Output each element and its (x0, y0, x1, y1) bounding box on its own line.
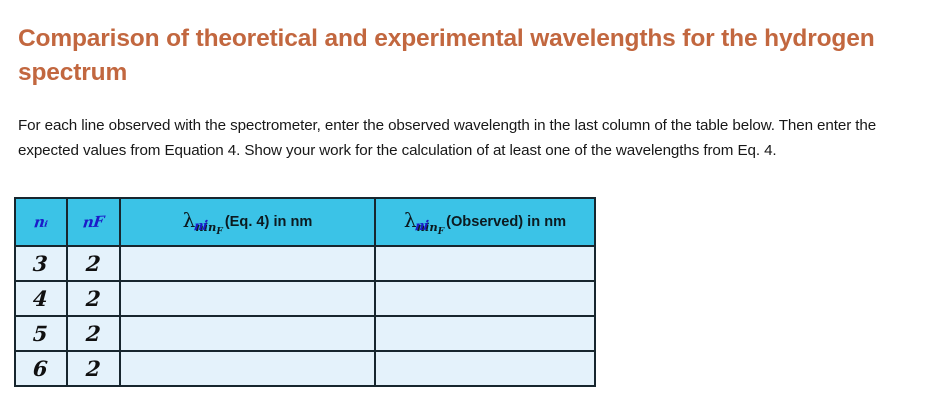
column-header-lambda-observed: λninF ni (Observed) in nm (375, 198, 595, 246)
cell-n-final: 2 (67, 316, 120, 351)
handwritten-value: 4 (33, 286, 50, 311)
column-header-n-initial: nᵢ (15, 198, 67, 246)
handwritten-value: 6 (33, 356, 50, 381)
wavelength-table-container: nᵢ nF λninF ni (Eq. 4) in nm λninF (14, 197, 594, 387)
cell-n-final: 2 (67, 246, 120, 281)
cell-n-initial: 6 (15, 351, 67, 386)
cell-n-final: 2 (67, 281, 120, 316)
handwritten-n-final-ink: nF (82, 212, 105, 231)
cell-n-final: 2 (67, 351, 120, 386)
page-title: Comparison of theoretical and experiment… (18, 22, 898, 90)
cell-lambda-eq4-input[interactable] (120, 351, 375, 386)
cell-n-initial: 4 (15, 281, 67, 316)
instructions-paragraph: For each line observed with the spectrom… (18, 114, 904, 163)
handwritten-value: 2 (85, 286, 102, 311)
table-row: 4 2 (15, 281, 595, 316)
handwritten-value: 2 (85, 251, 102, 276)
lambda-subscript-f-observed: F (438, 220, 444, 234)
wavelength-table: nᵢ nF λninF ni (Eq. 4) in nm λninF (14, 197, 596, 387)
table-row: 3 2 (15, 246, 595, 281)
handwritten-value: 5 (33, 321, 50, 346)
lambda-glyph-icon: λ (404, 208, 417, 232)
cell-lambda-eq4-input[interactable] (120, 316, 375, 351)
lambda-symbol-group-observed: λninF ni (404, 208, 444, 237)
column-header-observed-text: (Observed) in nm (446, 214, 566, 230)
lambda-subscript-f-glyph: F (216, 227, 222, 237)
worksheet-page: Comparison of theoretical and experiment… (0, 0, 936, 412)
handwritten-value: 2 (85, 321, 102, 346)
handwritten-n-initial-ink: nᵢ (33, 213, 49, 232)
cell-lambda-observed-input[interactable] (375, 281, 595, 316)
table-header: nᵢ nF λninF ni (Eq. 4) in nm λninF (15, 198, 595, 246)
column-header-eq4-text: (Eq. 4) in nm (225, 214, 313, 230)
cell-lambda-observed-input[interactable] (375, 351, 595, 386)
lambda-subscript-ni-observed: ni (417, 220, 430, 234)
table-header-row: nᵢ nF λninF ni (Eq. 4) in nm λninF (15, 198, 595, 246)
handwritten-value: 3 (33, 251, 50, 276)
cell-lambda-eq4-input[interactable] (120, 246, 375, 281)
lambda-subscript-n-observed: n (429, 220, 437, 234)
column-header-n-final: nF (67, 198, 120, 246)
cell-lambda-observed-input[interactable] (375, 246, 595, 281)
cell-lambda-observed-input[interactable] (375, 316, 595, 351)
handwritten-value: 2 (85, 356, 102, 381)
table-body: 3 2 4 2 (15, 246, 595, 386)
lambda-glyph-icon: λ (183, 208, 196, 232)
cell-n-initial: 3 (15, 246, 67, 281)
lambda-subscript-f-glyph: F (438, 227, 444, 237)
lambda-subscript-ni-eq4: ni (195, 220, 208, 234)
lambda-symbol-group-eq4: λninF ni (183, 208, 223, 237)
column-header-lambda-eq4: λninF ni (Eq. 4) in nm (120, 198, 375, 246)
lambda-subscript-f-eq4: F (216, 220, 222, 234)
table-row: 6 2 (15, 351, 595, 386)
table-row: 5 2 (15, 316, 595, 351)
cell-n-initial: 5 (15, 316, 67, 351)
cell-lambda-eq4-input[interactable] (120, 281, 375, 316)
